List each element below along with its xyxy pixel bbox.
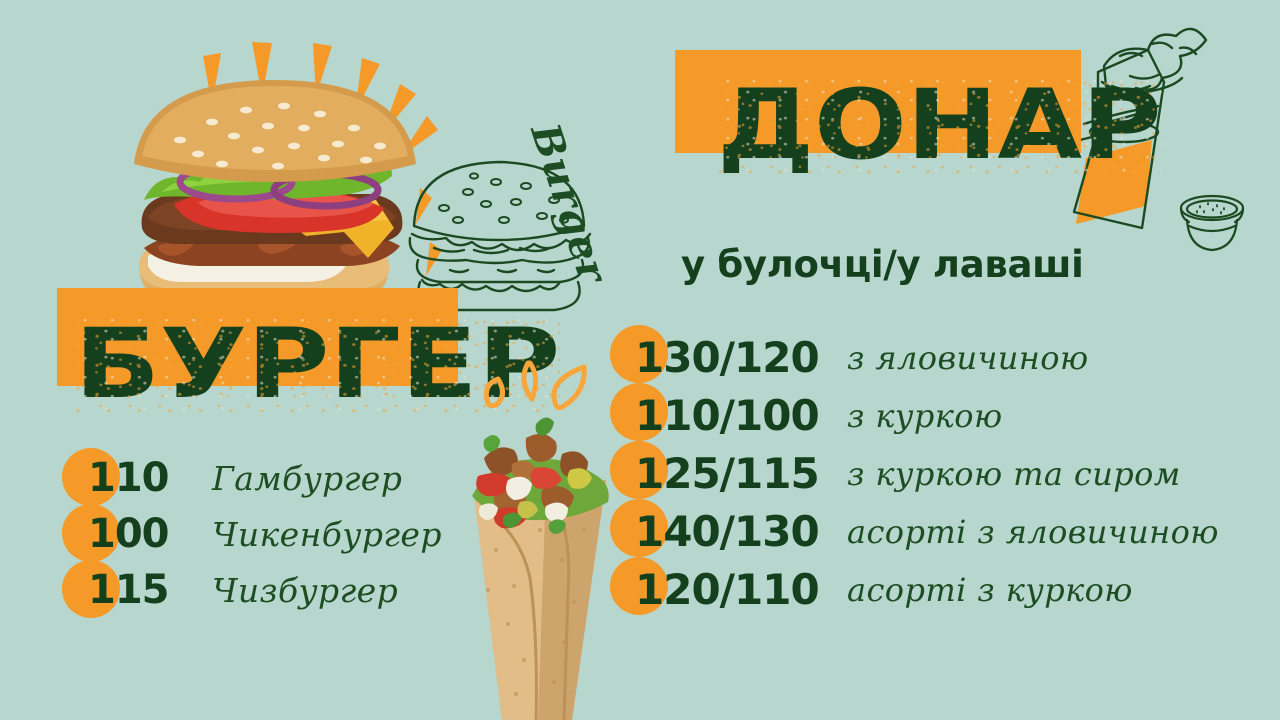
item-price: 140/130 xyxy=(607,507,847,556)
burger-photo xyxy=(118,78,430,308)
item-name: Чизбургер xyxy=(212,571,398,610)
list-item[interactable]: 140/130 асорті з яловичиною xyxy=(607,504,1219,559)
item-name: асорті з куркою xyxy=(847,571,1133,609)
sauce-cup-lineart-icon xyxy=(1176,192,1248,258)
list-item[interactable]: 110/100 з куркою xyxy=(607,388,1219,443)
list-item[interactable]: 110 Гамбургер xyxy=(60,452,442,504)
item-name: з яловичиною xyxy=(847,339,1089,377)
list-item[interactable]: 120/110 асорті з куркою xyxy=(607,562,1219,617)
sparkle-petals xyxy=(478,355,598,417)
item-name: з куркою xyxy=(847,397,1003,435)
item-price: 120/110 xyxy=(607,565,847,614)
list-item[interactable]: 115 Чизбургер xyxy=(60,564,442,616)
item-name: з куркою та сиром xyxy=(847,455,1181,493)
item-price: 110 xyxy=(60,455,212,501)
donar-subtitle: у булочці/у лаваші xyxy=(681,243,1084,286)
list-item[interactable]: 130/120 з яловичиною xyxy=(607,330,1219,385)
list-item[interactable]: 125/115 з куркою та сиром xyxy=(607,446,1219,501)
item-name: асорті з яловичиною xyxy=(847,513,1219,551)
menu-poster: Burger xyxy=(0,0,1280,720)
item-name: Чикенбургер xyxy=(212,515,442,554)
item-name: Гамбургер xyxy=(212,459,402,498)
item-price: 130/120 xyxy=(607,333,847,382)
donar-price-list: 130/120 з яловичиною 110/100 з куркою 12… xyxy=(607,330,1219,620)
shawarma-photo xyxy=(450,410,630,720)
item-price: 100 xyxy=(60,511,212,557)
item-price: 115 xyxy=(60,567,212,613)
donar-title: ДОНАР xyxy=(717,77,1161,173)
burger-price-list: 110 Гамбургер 100 Чикенбургер 115 Чизбур… xyxy=(60,452,442,620)
item-price: 110/100 xyxy=(607,391,847,440)
list-item[interactable]: 100 Чикенбургер xyxy=(60,508,442,560)
item-price: 125/115 xyxy=(607,449,847,498)
